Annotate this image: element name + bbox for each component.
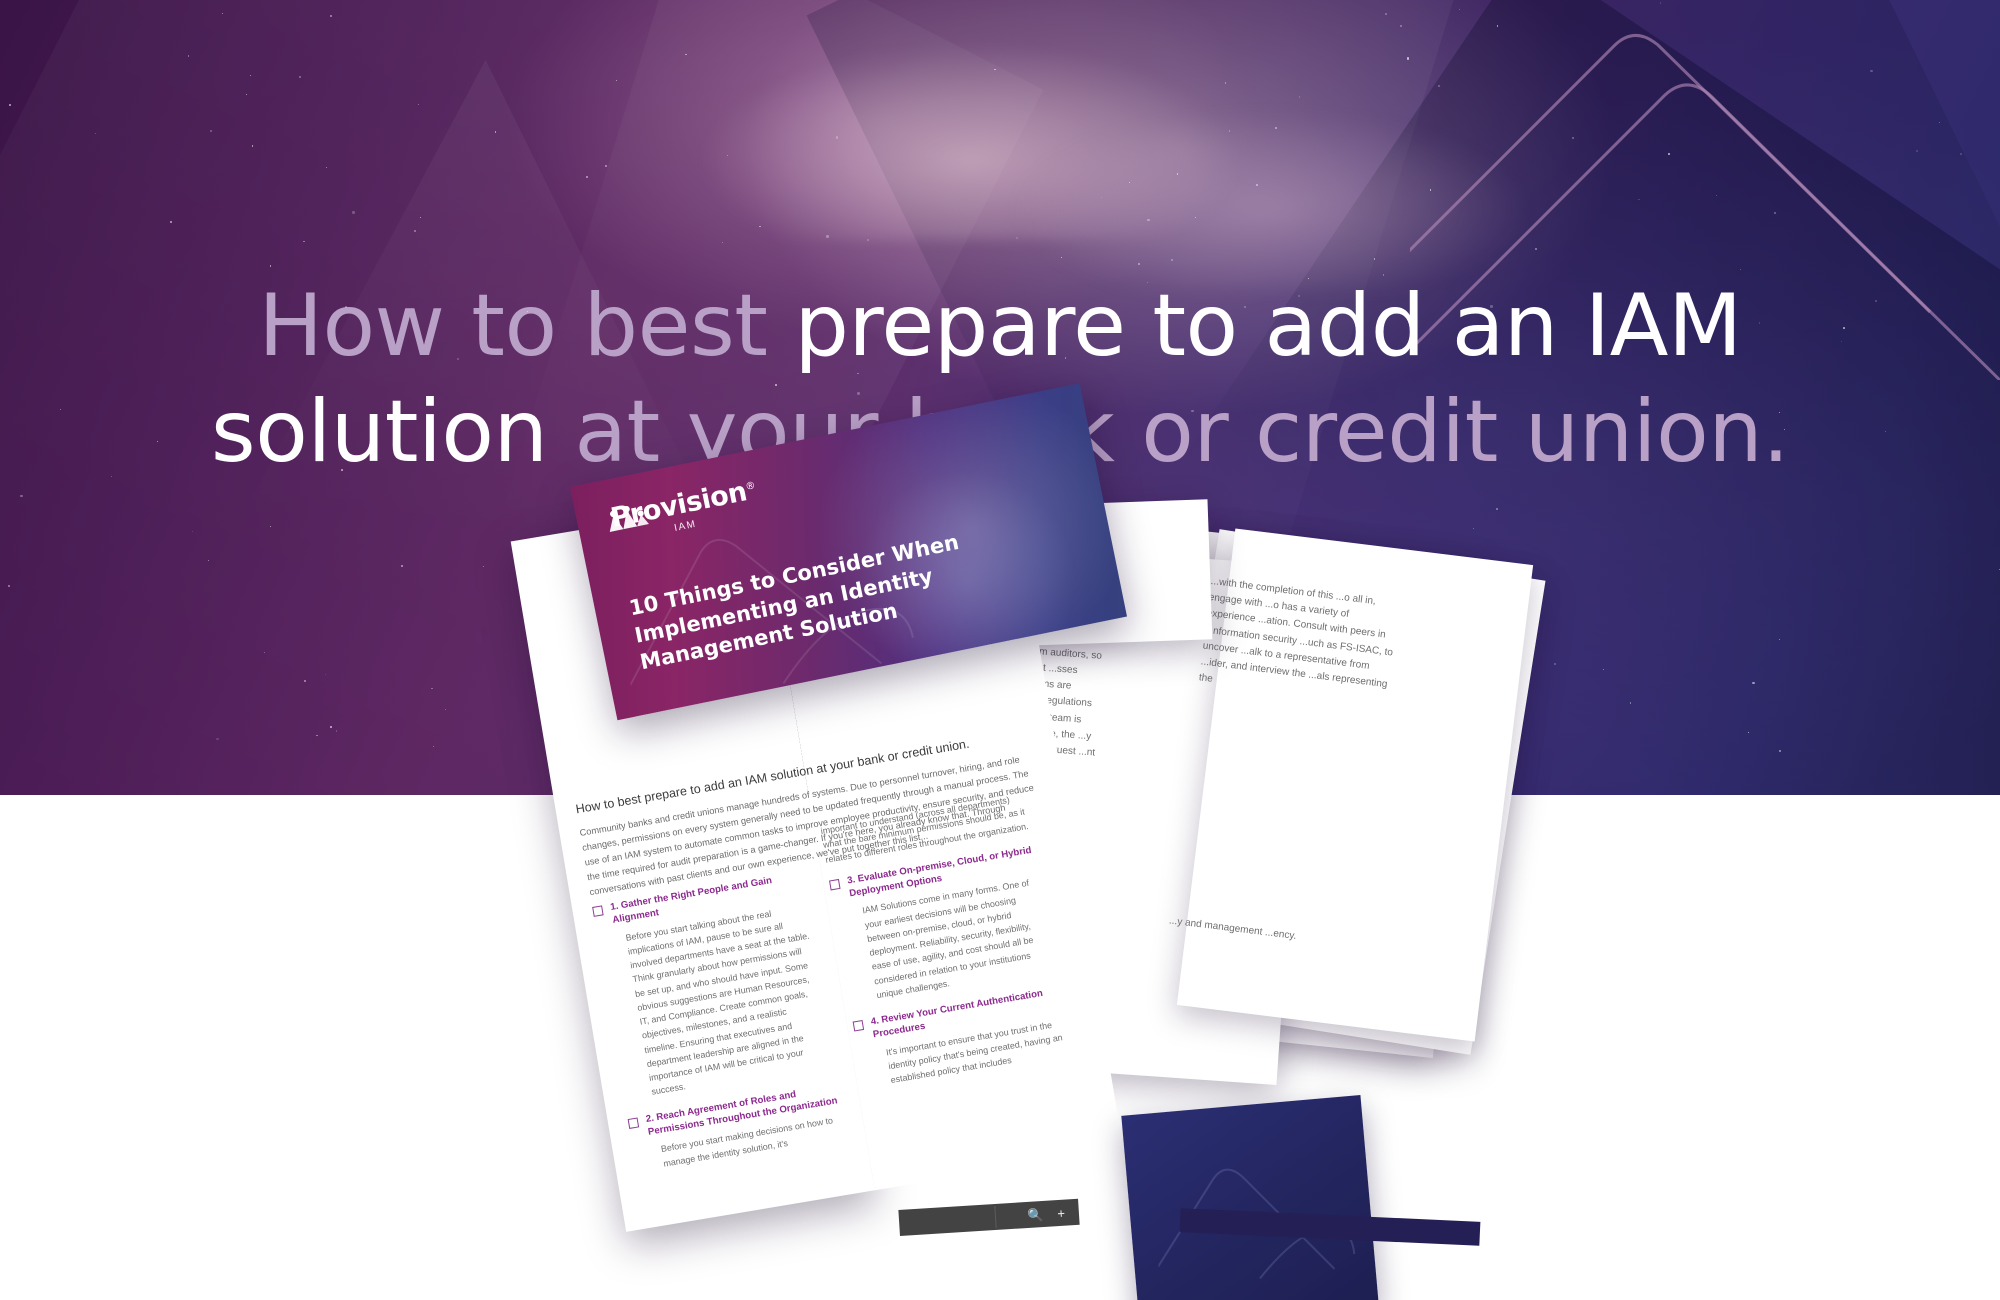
checkbox-icon[interactable] bbox=[853, 1020, 865, 1032]
checklist-item: 3. Evaluate On-premise, Cloud, or Hybrid… bbox=[829, 844, 1058, 1007]
back-page-body: ...with the completion of this ...o all … bbox=[1198, 574, 1400, 710]
brand-trademark: ® bbox=[745, 480, 757, 493]
toolbar-divider bbox=[994, 1206, 996, 1228]
checklist-item-body: Before you start talking about the real … bbox=[615, 901, 833, 1101]
checklist-item: 4. Review Your Current Authentication Pr… bbox=[852, 985, 1071, 1092]
page-root: How to best prepare to add an IAM soluti… bbox=[0, 0, 2000, 1300]
background-sheet-right: ...with the completion of this ...o all … bbox=[1177, 529, 1533, 1042]
zoom-out-icon[interactable]: 🔍 bbox=[1027, 1207, 1044, 1221]
checklist-item: 1. Gather the Right People and Gain Alig… bbox=[592, 870, 832, 1104]
navy-arc-line-art-icon bbox=[1147, 1122, 1359, 1289]
zoom-in-icon[interactable]: + bbox=[1057, 1206, 1065, 1219]
checkbox-icon[interactable] bbox=[628, 1117, 640, 1129]
document-stack: ...ur Understanding of ...ance and Regul… bbox=[0, 0, 2000, 1300]
back-page-body: ...y and management ...ency. bbox=[1168, 913, 1359, 952]
zoom-toolbar[interactable]: 🔍 + bbox=[898, 1199, 1079, 1236]
checkbox-icon[interactable] bbox=[829, 879, 841, 891]
navy-back-cover bbox=[1121, 1095, 1378, 1300]
checkbox-icon[interactable] bbox=[592, 905, 604, 917]
